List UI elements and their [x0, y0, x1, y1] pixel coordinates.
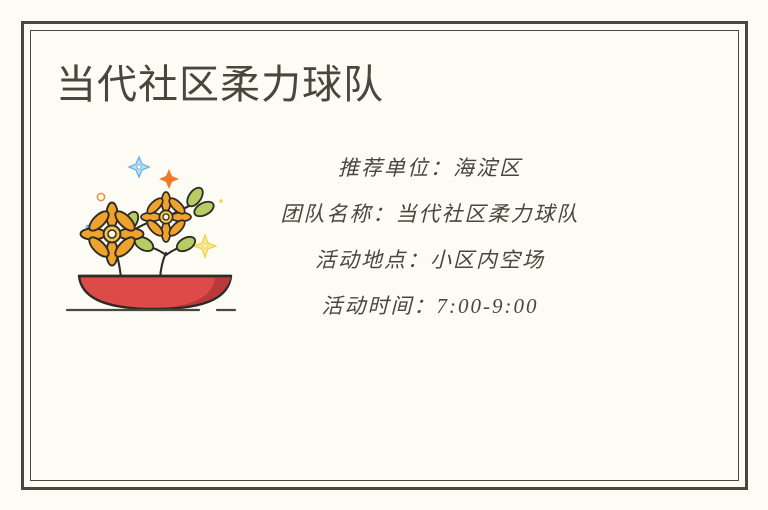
detail-line-activity-location: 活动地点：小区内空场: [220, 237, 640, 283]
poster-card: 当代社区柔力球队: [0, 0, 768, 510]
flower-pot: [79, 276, 231, 309]
potted-flowers-illustration: [65, 143, 245, 323]
detail-line-recommending-unit: 推荐单位：海淀区: [220, 145, 640, 191]
content-area: 推荐单位：海淀区 团队名称：当代社区柔力球队 活动地点：小区内空场 活动时间：7…: [30, 135, 738, 365]
details-list: 推荐单位：海淀区 团队名称：当代社区柔力球队 活动地点：小区内空场 活动时间：7…: [220, 145, 640, 329]
detail-line-activity-time: 活动时间：7:00-9:00: [220, 283, 640, 329]
page-title: 当代社区柔力球队: [56, 60, 384, 110]
detail-line-team-name: 团队名称：当代社区柔力球队: [220, 191, 640, 237]
flower-small: [141, 192, 191, 242]
